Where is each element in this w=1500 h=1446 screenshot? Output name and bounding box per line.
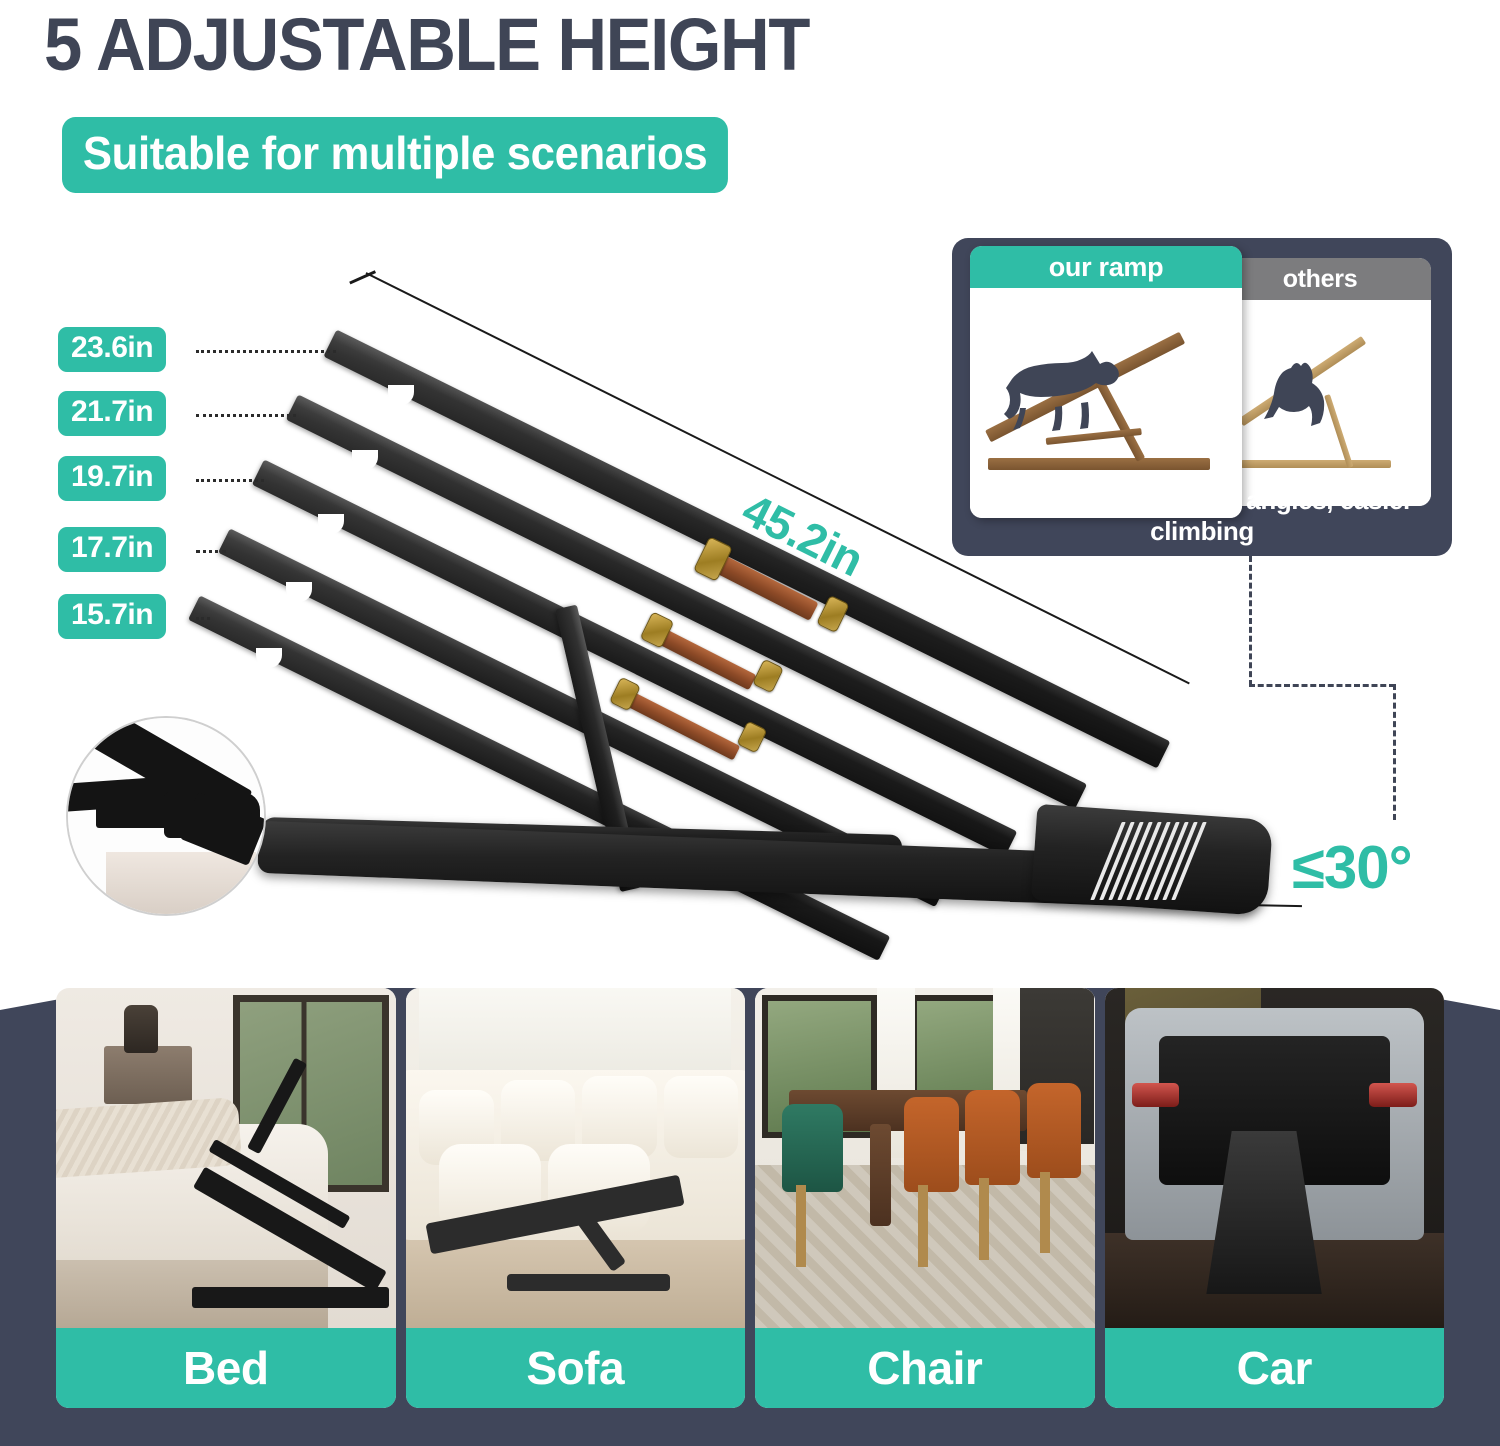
dining-chair-orange-1: [904, 1097, 958, 1192]
table-lamp: [124, 1005, 158, 1053]
dining-chair-orange-2-leg: [979, 1178, 989, 1260]
dining-chair-green-leg: [796, 1185, 806, 1267]
sofa-cushion-4: [664, 1076, 739, 1158]
scenario-label-car: Car: [1105, 1328, 1445, 1408]
dining-chair-orange-2: [965, 1090, 1019, 1185]
detail-inset-bg: [68, 718, 264, 914]
plank-notch-1: [388, 385, 414, 405]
dining-chair-green: [782, 1104, 843, 1192]
scenario-card-chair[interactable]: Chair: [755, 988, 1095, 1408]
plank-notch-5: [256, 648, 282, 668]
dining-chair-orange-1-leg: [918, 1185, 928, 1267]
height-label-2: 21.7in: [58, 391, 166, 436]
others-panel: others: [1209, 258, 1431, 506]
livingroom-scene: [406, 988, 746, 1328]
leader-line-2: [196, 414, 296, 417]
connector-segment-vertical-2: [1393, 684, 1396, 820]
scenario-card-car[interactable]: Car: [1105, 988, 1445, 1408]
height-label-1: 23.6in: [58, 327, 166, 372]
subtitle-badge: Suitable for multiple scenarios: [62, 117, 728, 193]
scenario-label-chair: Chair: [755, 1328, 1095, 1408]
diningroom-scene: [755, 988, 1095, 1328]
scenario-photo-car: [1105, 988, 1445, 1328]
connector-segment-vertical-1: [1249, 556, 1252, 686]
comparison-card: others our ramp: [952, 238, 1452, 556]
taillight-left: [1132, 1083, 1180, 1107]
our-ramp-header: our ramp: [970, 246, 1242, 288]
page-title: 5 ADJUSTABLE HEIGHT: [44, 2, 809, 87]
height-label-4: 17.7in: [58, 527, 166, 572]
plank-notch-2: [352, 450, 378, 470]
car-scene: [1105, 988, 1445, 1328]
leader-line-3: [196, 479, 264, 482]
our-ramp-base: [988, 458, 1210, 470]
leader-line-5: [196, 617, 210, 620]
leader-line-4: [196, 550, 226, 553]
plank-notch-3: [318, 514, 344, 534]
leader-line-1: [196, 350, 336, 353]
infographic-page: 5 ADJUSTABLE HEIGHT Suitable for multipl…: [0, 0, 1500, 1446]
detail-inset-circle: [66, 716, 266, 916]
scenario-card-bed[interactable]: Bed: [56, 988, 396, 1408]
scenario-label-sofa: Sofa: [406, 1328, 746, 1408]
our-ramp-panel: our ramp: [970, 246, 1242, 518]
scenario-photo-chair: [755, 988, 1095, 1328]
ramp-plank-3: [252, 459, 1017, 856]
scenario-photo-sofa: [406, 988, 746, 1328]
dining-chair-orange-3: [1027, 1083, 1081, 1178]
plank-notch-4: [286, 582, 312, 602]
others-header: others: [1209, 258, 1431, 300]
dining-table-leg: [870, 1124, 890, 1226]
blanket: [56, 1097, 241, 1179]
our-ramp-illustration: [970, 288, 1242, 518]
scenario-photo-bed: [56, 988, 396, 1328]
angle-annotation: ≤30°: [1292, 833, 1412, 902]
detail-floor: [106, 852, 256, 914]
dog-silhouette-ours: [1004, 350, 1134, 446]
others-illustration: [1209, 300, 1431, 506]
scenario-label-bed: Bed: [56, 1328, 396, 1408]
dog-silhouette-others: [1261, 356, 1343, 438]
taillight-right: [1369, 1083, 1417, 1107]
scenario-cards: Bed: [0, 988, 1500, 1408]
scenario-card-sofa[interactable]: Sofa: [406, 988, 746, 1408]
dining-chair-orange-3-leg: [1040, 1172, 1050, 1254]
others-ramp-base: [1241, 460, 1391, 468]
bedroom-scene: [56, 988, 396, 1328]
sofa-ramp-base: [507, 1274, 670, 1291]
height-label-5: 15.7in: [58, 594, 166, 639]
bed-ramp-base: [192, 1287, 389, 1307]
comparison-caption: Longer ramps, lower angles, easier climb…: [952, 485, 1452, 547]
nightstand: [104, 1046, 192, 1104]
detail-bar-tab: [96, 802, 174, 828]
height-label-3: 19.7in: [58, 456, 166, 501]
connector-segment-horizontal: [1249, 684, 1395, 687]
